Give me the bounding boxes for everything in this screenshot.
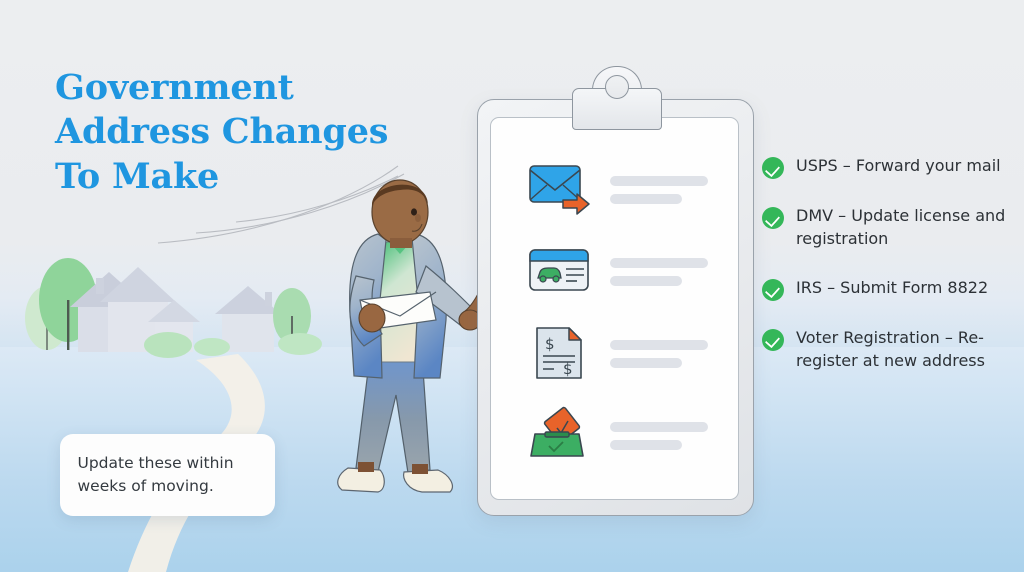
check-circle-icon — [762, 207, 784, 229]
checklist-item-usps[interactable]: USPS – Forward your mail — [762, 155, 1012, 179]
placeholder-line-long — [610, 340, 708, 350]
bush-right — [278, 333, 322, 355]
holding-hand — [359, 304, 385, 332]
clipboard: $ $ — [477, 99, 754, 516]
checklist-item-label: IRS – Submit Form 8822 — [796, 277, 1011, 300]
placeholder-line-short — [610, 194, 682, 204]
checklist-item-voter[interactable]: Voter Registration – Re-register at new … — [762, 327, 1012, 373]
caption-card: Update these within weeks of moving. — [60, 434, 275, 516]
checklist-item-irs[interactable]: IRS – Submit Form 8822 — [762, 277, 1012, 301]
bush-mid — [194, 338, 230, 356]
placeholder-line-short — [610, 358, 682, 368]
checklist-item-label: DMV – Update license and registration — [796, 205, 1011, 251]
title-line-1: Government — [55, 66, 445, 110]
clipboard-row-usps — [491, 160, 738, 222]
svg-text:$: $ — [563, 360, 573, 378]
clipboard-clip-hole — [605, 75, 629, 99]
drivers-license-card-icon — [527, 242, 593, 300]
tax-document-dollar-icon: $ $ — [527, 324, 593, 382]
title-line-2: Address Changes — [55, 110, 445, 154]
ballot-box-icon — [527, 406, 593, 464]
caption-text: Update these within weeks of moving. — [78, 452, 258, 498]
checklist-item-label: USPS – Forward your mail — [796, 155, 1011, 178]
clipboard-row-voter — [491, 406, 738, 468]
checklist: USPS – Forward your mail DMV – Update li… — [762, 155, 1012, 399]
clipboard-row-irs: $ $ — [491, 324, 738, 386]
check-circle-icon — [762, 329, 784, 351]
svg-text:$: $ — [545, 335, 555, 353]
check-circle-icon — [762, 157, 784, 179]
placeholder-line-long — [610, 422, 708, 432]
checklist-item-label: Voter Registration – Re-register at new … — [796, 327, 1011, 373]
checklist-item-dmv[interactable]: DMV – Update license and registration — [762, 205, 1012, 251]
infographic-canvas: Government Address Changes To Make — [0, 0, 1024, 572]
check-circle-icon — [762, 279, 784, 301]
placeholder-line-short — [610, 440, 682, 450]
clipboard-paper: $ $ — [490, 117, 739, 500]
bush-left — [144, 332, 192, 358]
placeholder-line-long — [610, 258, 708, 268]
placeholder-line-short — [610, 276, 682, 286]
envelope-forward-icon — [527, 160, 593, 218]
eye — [411, 208, 417, 215]
clipboard-row-dmv — [491, 242, 738, 304]
placeholder-line-long — [610, 176, 708, 186]
